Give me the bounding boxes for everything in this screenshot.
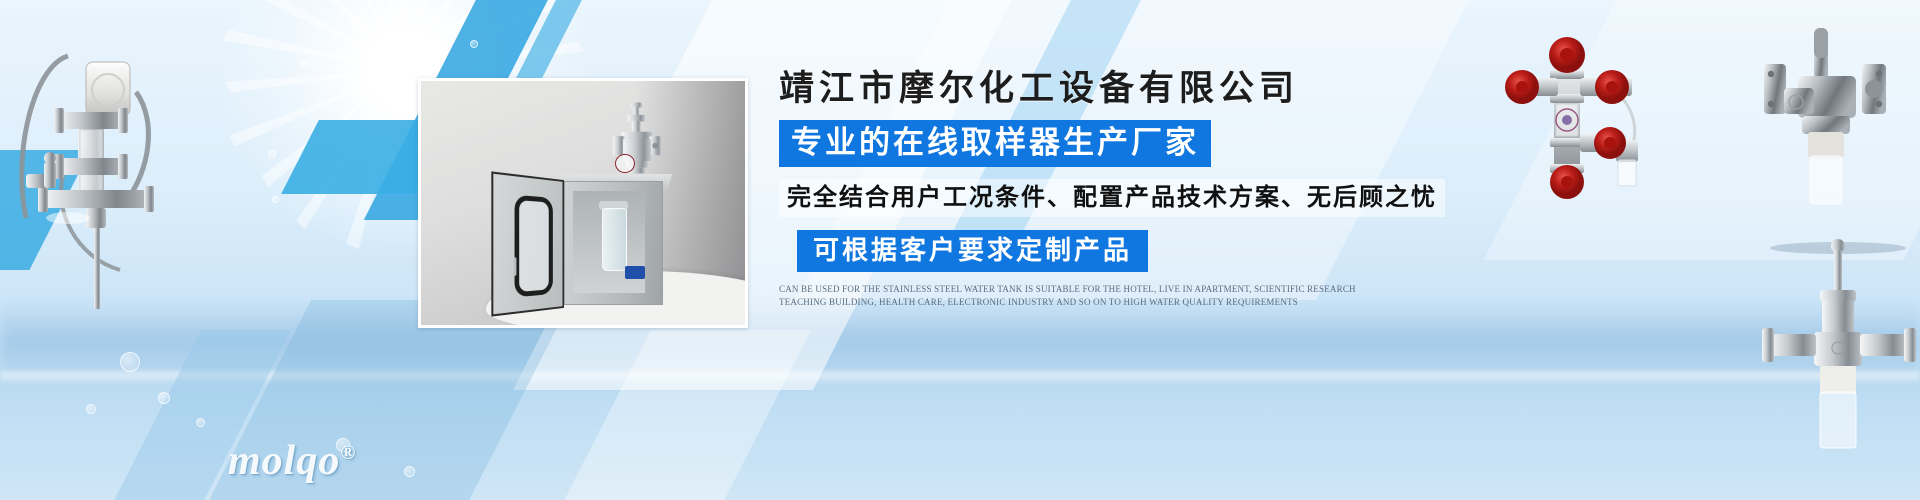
equipment-top-right-illustration [1498, 30, 1698, 210]
watermark-text: molqo [228, 438, 340, 484]
description-text: 完全结合用户工况条件、配置产品技术方案、无后顾之忧 [779, 179, 1445, 218]
bubble-icon [272, 196, 279, 203]
copy-block: 靖江市摩尔化工设备有限公司 专业的在线取样器生产厂家 完全结合用户工况条件、配置… [779, 70, 1399, 309]
sample-bottle [602, 208, 627, 271]
headline-highlight: 专业的在线取样器生产厂家 [779, 120, 1211, 167]
equipment-bottom-right-illustration [1760, 232, 1920, 482]
bubble-icon [352, 18, 370, 36]
bubble-icon [158, 392, 170, 404]
bubble-icon [404, 466, 415, 477]
brand-watermark: molqo® [228, 437, 356, 485]
bubble-icon [120, 352, 140, 372]
bubble-icon [300, 60, 309, 69]
subheadline-highlight: 可根据客户要求定制产品 [797, 230, 1148, 272]
equipment-left-illustration [8, 22, 198, 322]
english-paragraph: CAN BE USED FOR THE STAINLESS STEEL WATE… [779, 283, 1379, 309]
equipment-mid-right-illustration [1740, 22, 1910, 252]
bubble-icon [86, 404, 96, 414]
sampler-valve-assembly [599, 101, 674, 182]
company-name: 靖江市摩尔化工设备有限公司 [779, 70, 1399, 109]
horizon-highlight [0, 372, 1920, 384]
horizon-band [0, 300, 1920, 390]
cabinet-door [491, 172, 563, 317]
ribbon-blue-4 [0, 150, 91, 270]
bubble-icon [268, 150, 276, 158]
registered-trademark-icon: ® [340, 442, 356, 464]
product-photo[interactable] [418, 78, 748, 328]
ribbon-white-3 [1484, 0, 1920, 260]
bubble-icon [392, 34, 403, 45]
door-key [514, 258, 517, 277]
promo-banner: 靖江市摩尔化工设备有限公司 专业的在线取样器生产厂家 完全结合用户工况条件、配置… [0, 0, 1920, 500]
bubble-icon [196, 418, 205, 427]
bubble-icon [470, 40, 478, 48]
ribbon-bottom-3 [549, 330, 811, 500]
